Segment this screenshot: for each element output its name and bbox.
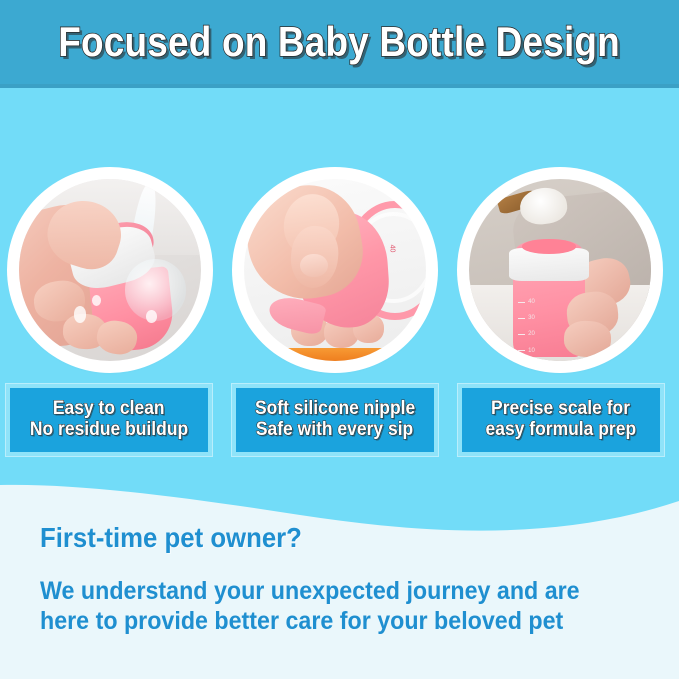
page-title: Focused on Baby Bottle Design: [59, 21, 621, 63]
caption-panel-soft-nipple: Soft silicone nipple Safe with every sip: [231, 383, 439, 457]
scale-mark-40: 40: [528, 299, 535, 305]
header-band: Focused on Baby Bottle Design: [0, 0, 679, 88]
feature-caption-row: Easy to clean No residue buildup Soft si…: [0, 383, 679, 463]
bottom-headline: First-time pet owner?: [40, 523, 592, 554]
caption-line-1: Soft silicone nipple: [255, 399, 415, 420]
feature-photo-precise-scale: 40 30 20 10: [462, 172, 658, 368]
caption-line-2: Safe with every sip: [256, 420, 413, 441]
bottom-paragraph-line-1: We understand your unexpected journey an…: [40, 576, 598, 607]
product-feature-poster: Focused on Baby Bottle Design: [0, 0, 679, 679]
bottom-paragraph-line-2: here to provide better care for your bel…: [40, 606, 598, 637]
caption-line-1: Precise scale for: [492, 399, 631, 420]
photo-scene-formula-scoop: 40 30 20 10: [469, 179, 651, 361]
photo-scene-squeezing-nipple: 40: [244, 179, 426, 361]
caption-line-1: Easy to clean: [53, 399, 165, 420]
caption-line-2: easy formula prep: [486, 420, 637, 441]
scale-mark-20: 20: [528, 331, 535, 337]
feature-photo-easy-to-clean: [12, 172, 208, 368]
bottom-message-section: First-time pet owner? We understand your…: [0, 463, 679, 679]
feature-photo-soft-nipple: 40: [237, 172, 433, 368]
caption-panel-precise-scale: Precise scale for easy formula prep: [457, 383, 665, 457]
orange-accent-strip: [277, 348, 393, 361]
bottom-paragraph: We understand your unexpected journey an…: [40, 576, 598, 637]
caption-line-2: No residue buildup: [30, 420, 188, 441]
scale-mark-10: 10: [528, 348, 535, 354]
feature-photo-row: 40: [0, 172, 679, 372]
photo-scene-rinsing-bottle: [19, 179, 201, 361]
scale-mark-30: 30: [528, 315, 535, 321]
nipple-scale-label: 40: [388, 244, 395, 252]
caption-panel-easy-to-clean: Easy to clean No residue buildup: [5, 383, 213, 457]
